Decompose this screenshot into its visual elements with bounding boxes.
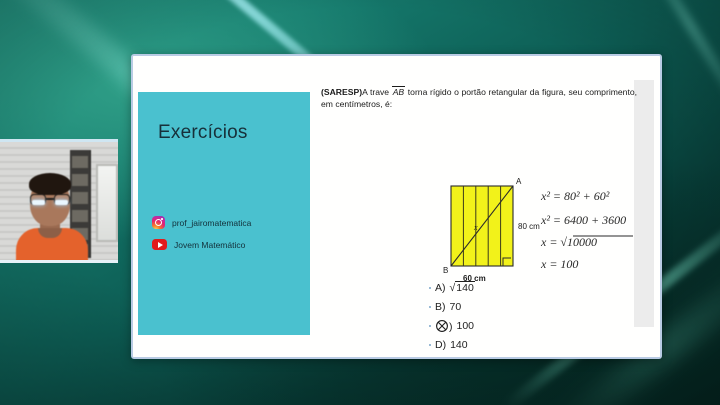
option-b-key: B) (435, 301, 446, 313)
answer-option-b[interactable]: B) 70 (429, 297, 569, 316)
handwriting-line-3: x = √10000 (540, 235, 597, 249)
option-bullet-icon (429, 306, 431, 308)
slide-window[interactable]: Exercícios prof_jairomatematica Jovem Ma… (131, 54, 662, 359)
option-d-text: 140 (450, 339, 468, 351)
diagonal-label-x: x (473, 223, 478, 232)
segment-ab-label: AB (392, 86, 405, 97)
option-bullet-icon (429, 325, 431, 327)
option-c-text: 100 (457, 320, 475, 332)
question-source-label: (SARESP) (321, 87, 362, 97)
social-handle-instagram[interactable]: prof_jairomatematica (152, 216, 251, 229)
answer-options-list: A) √140 B) 70 (429, 278, 569, 354)
option-c-paren: ) (449, 321, 453, 333)
option-b-text: 70 (450, 301, 462, 313)
answer-option-a[interactable]: A) √140 (429, 278, 569, 297)
slide-sidebar: Exercícios prof_jairomatematica Jovem Ma… (138, 92, 310, 335)
webcam-blur-overlay (0, 142, 118, 260)
youtube-handle-label: Jovem Matemático (174, 240, 245, 250)
option-bullet-icon (429, 287, 431, 289)
instagram-handle-label: prof_jairomatematica (172, 218, 251, 228)
screen-capture: Exercícios prof_jairomatematica Jovem Ma… (0, 0, 720, 405)
handwriting-line-2: x² = 6400 + 3600 (540, 213, 626, 227)
question-statement: (SARESP)A trave AB torna rígido o portão… (321, 86, 637, 111)
option-bullet-icon (429, 344, 431, 346)
slide-canvas: Exercícios prof_jairomatematica Jovem Ma… (133, 56, 660, 357)
answer-option-d[interactable]: D) 140 (429, 335, 569, 354)
question-line1-pre: A trave (362, 87, 392, 97)
option-a-key: A) (435, 282, 446, 294)
page-title: Exercícios (158, 122, 248, 144)
option-a-text: √140 (450, 282, 475, 294)
handwriting-svg: x² = 80² + 60² x² = 6400 + 3600 x = √100… (537, 184, 662, 284)
handwritten-solution-overlay: x² = 80² + 60² x² = 6400 + 3600 x = √100… (537, 184, 662, 284)
social-handle-youtube[interactable]: Jovem Matemático (152, 239, 245, 250)
question-text-block: (SARESP)A trave AB torna rígido o portão… (321, 86, 637, 111)
answer-option-c[interactable]: ) 100 (429, 316, 569, 335)
vertex-label-b: B (443, 266, 448, 275)
instagram-icon (152, 216, 165, 229)
handwriting-line-4: x = 100 (540, 257, 578, 271)
handwriting-line-1: x² = 80² + 60² (540, 189, 610, 203)
option-c-key-marked: ) (435, 319, 453, 333)
option-d-key: D) (435, 339, 446, 351)
instructor-webcam-feed[interactable] (0, 139, 118, 263)
youtube-icon (152, 239, 167, 250)
vertex-label-a: A (516, 177, 522, 186)
circled-x-icon (435, 319, 449, 333)
question-line1-post: torna rígido o portão retangular da (405, 87, 539, 97)
